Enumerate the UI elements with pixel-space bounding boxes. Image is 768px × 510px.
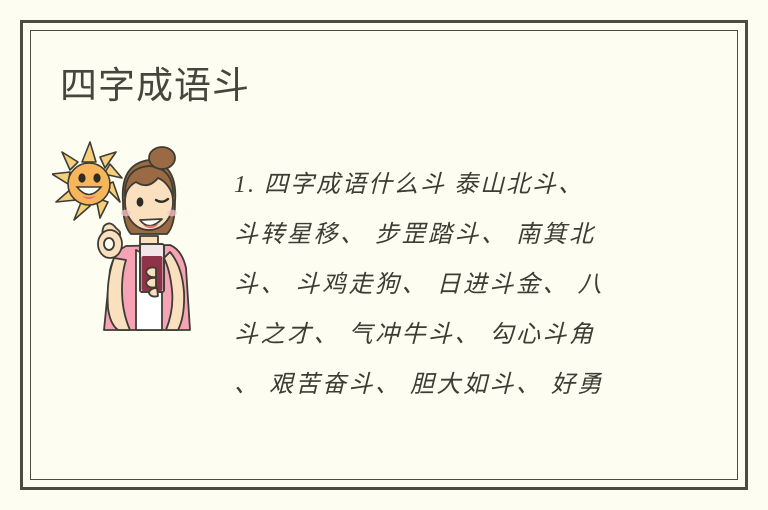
text-line: 、 艰苦奋斗、 胆大如斗、 好勇	[234, 360, 654, 410]
idiom-list-text: 1. 四字成语什么斗 泰山北斗、 斗转星移、 步罡踏斗、 南箕北 斗、 斗鸡走狗…	[234, 160, 654, 410]
page-title: 四字成语斗	[60, 62, 250, 110]
text-line: 斗转星移、 步罡踏斗、 南箕北	[234, 210, 654, 260]
smiling-sun-icon	[52, 142, 122, 220]
text-line: 斗之才、 气冲牛斗、 勾心斗角	[234, 310, 654, 360]
illustration-girl-with-juice-and-sun	[52, 140, 224, 332]
text-line: 斗、 斗鸡走狗、 日进斗金、 八	[234, 260, 654, 310]
text-line: 1. 四字成语什么斗 泰山北斗、	[234, 160, 654, 210]
page-root: 四字成语斗	[0, 0, 768, 510]
